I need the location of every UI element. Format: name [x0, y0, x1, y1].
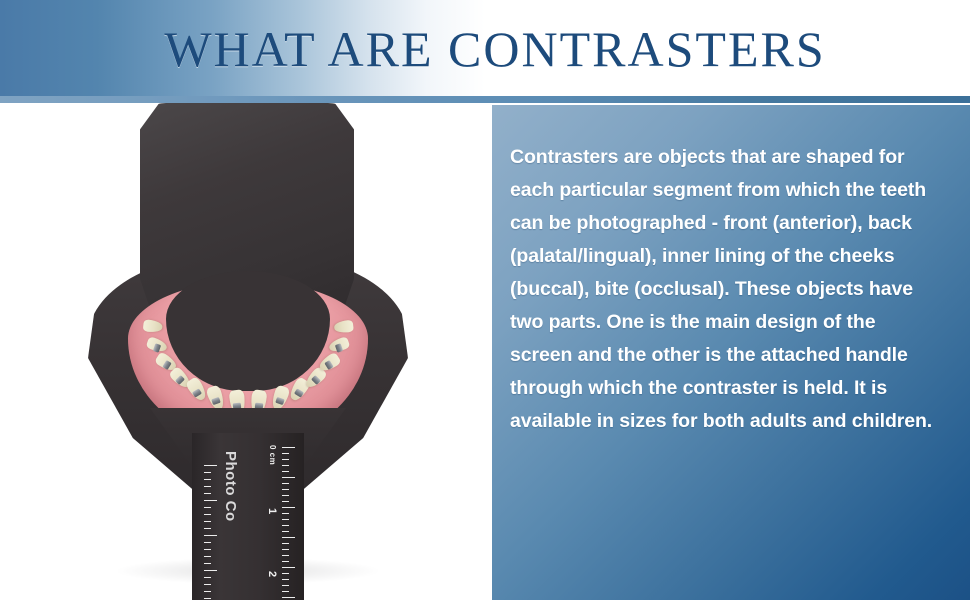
ruler-tick [282, 585, 289, 586]
ruler-tick [282, 483, 289, 484]
braces-bracket [233, 402, 242, 409]
ruler-tick [204, 465, 217, 466]
ruler-tick [204, 598, 211, 599]
ruler-tick [282, 453, 289, 454]
ruler-tick [204, 591, 211, 592]
ruler-tick [282, 489, 289, 490]
ruler-tick [204, 472, 211, 473]
ruler-mark-2: 2 [266, 571, 278, 577]
ruler-tick [204, 535, 217, 536]
ruler-tick [204, 507, 211, 508]
ruler-tick [204, 521, 211, 522]
ruler-ticks-left [204, 463, 220, 600]
ruler-tick [282, 465, 289, 466]
ruler-tick [204, 570, 217, 571]
ruler-tick [282, 555, 289, 556]
ruler-tick [282, 519, 289, 520]
ruler-tick [282, 447, 295, 448]
ruler-tick [282, 543, 289, 544]
ruler-tick [204, 577, 211, 578]
ruler-tick [282, 579, 289, 580]
ruler-tick [204, 542, 211, 543]
ruler-tick [204, 479, 211, 480]
ruler-tick [282, 591, 289, 592]
ruler-tick [204, 556, 211, 557]
handle-brand-label: Photo Co [222, 451, 239, 522]
ruler-tick [282, 507, 295, 508]
ruler-ticks-right [282, 445, 298, 600]
ruler-tick [204, 500, 217, 501]
ruler-tick [204, 549, 211, 550]
ruler-tick [282, 501, 289, 502]
ruler-tick [282, 537, 295, 538]
page-title: What are contrasters [0, 0, 970, 97]
info-panel: Contrasters are objects that are shaped … [492, 105, 970, 600]
product-photo: Photo Co 0 cm 1 2 [0, 103, 492, 600]
contraster-handle: Photo Co 0 cm 1 2 [192, 433, 304, 600]
slide-root: What are contrasters Photo Co 0 cm 1 2 [0, 0, 970, 600]
ruler-tick [282, 567, 295, 568]
ruler-tick [282, 597, 295, 598]
ruler-tick [282, 573, 289, 574]
ruler-tick [282, 513, 289, 514]
ruler-tick [204, 584, 211, 585]
ruler-tick [282, 477, 295, 478]
ruler-tick [204, 528, 211, 529]
ruler-tick [282, 549, 289, 550]
ruler-tick [282, 459, 289, 460]
ruler-mark-1: 1 [266, 508, 278, 514]
ruler-tick [282, 471, 289, 472]
ruler-tick [282, 495, 289, 496]
header-divider-rule [0, 96, 970, 103]
ruler-unit-label: 0 cm [268, 445, 277, 465]
ruler-tick [204, 514, 211, 515]
ruler-tick [204, 563, 211, 564]
ruler-tick [282, 561, 289, 562]
ruler-tick [204, 493, 211, 494]
info-panel-body-text: Contrasters are objects that are shaped … [510, 141, 942, 438]
braces-bracket [254, 402, 263, 409]
ruler-tick [282, 531, 289, 532]
ruler-tick [204, 486, 211, 487]
contraster-illustration: Photo Co 0 cm 1 2 [88, 103, 408, 600]
ruler-tick [282, 525, 289, 526]
